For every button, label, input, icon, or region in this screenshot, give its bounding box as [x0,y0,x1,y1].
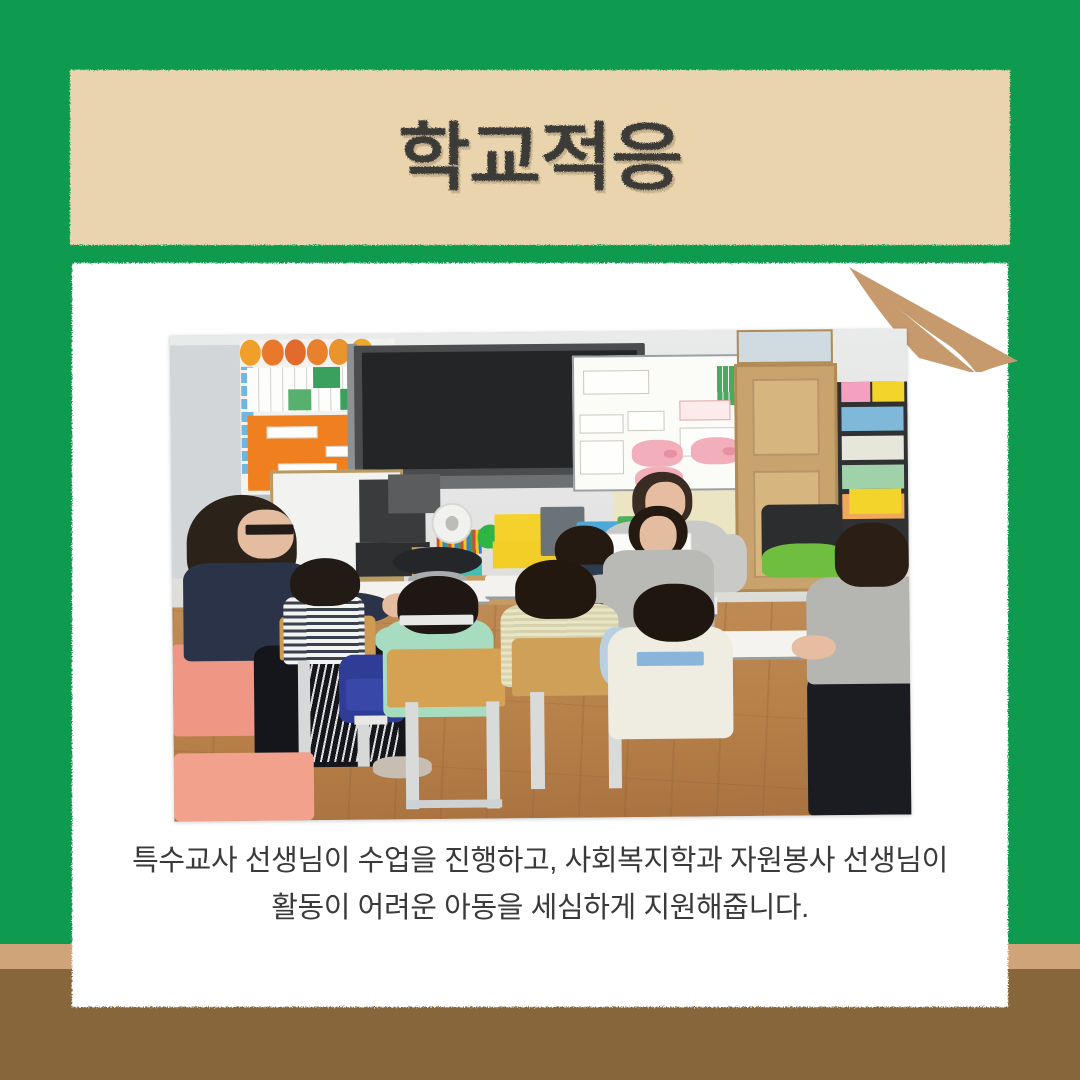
photo-whiteboard-note [627,411,664,431]
classroom-photo [170,328,912,821]
photo-door-window [737,329,833,364]
photo-chair-leg [298,660,311,767]
photo-whiteboard-note [679,401,731,421]
title-banner: 학교적응 [70,70,1010,245]
caption-block: 특수교사 선생님이 수업을 진행하고, 사회복지학과 자원봉사 선생님이 활동이… [110,838,970,932]
photo-wooden-chair [386,648,504,707]
photo-whiteboard-note [579,414,623,434]
poster-root: 학교적응 [0,0,1080,1080]
photo-fan [431,503,472,545]
photo-backpack-nametag [354,715,387,725]
page-title: 학교적응 [398,121,682,195]
photo-child-head [397,576,479,635]
photo-adult-glasses [245,524,293,535]
photo-board-card [266,426,318,438]
photo-chair-leg [531,692,545,789]
caption-line-1: 특수교사 선생님이 수업을 진행하고, 사회복지학과 자원봉사 선생님이 [110,838,970,885]
photo-rack-book [841,435,904,460]
photo-chair-leg [405,703,419,810]
photo-chair-foot-bar [406,799,502,809]
photo-volunteer-face [639,515,676,554]
photo-whiteboard-note [580,441,625,475]
photo-rack-book [842,465,905,490]
photo-volunteer-hoodie [806,576,911,684]
photo-child-head [633,583,715,642]
photo-child-head [515,560,597,619]
photo-child-cream-jacket [607,627,733,740]
photo-rack-header [841,382,871,402]
photo-adult-shoe [373,756,432,778]
photo-jacket-print [637,651,703,666]
photo-rack-book [841,406,904,431]
photo-board-green-cell [288,389,312,410]
photo-child-headband [399,615,473,625]
photo-chair-leg [486,702,500,809]
caption-line-2: 활동이 어려운 아동을 세심하게 지원해줍니다. [110,885,970,932]
photo-whiteboard-note [583,370,650,395]
photo-door-panel [752,378,819,456]
photo-volunteer-pants [807,673,912,815]
photo-child-head [290,557,360,606]
photo-volunteer-head [835,523,909,587]
photo-equipment-box [388,474,440,513]
photo-pig-drawing [631,440,683,467]
photo-yellow-box [849,489,901,514]
photo-pink-cushion [174,752,315,821]
photo-rack-header [873,382,905,402]
photo-board-green-cell [313,367,340,388]
